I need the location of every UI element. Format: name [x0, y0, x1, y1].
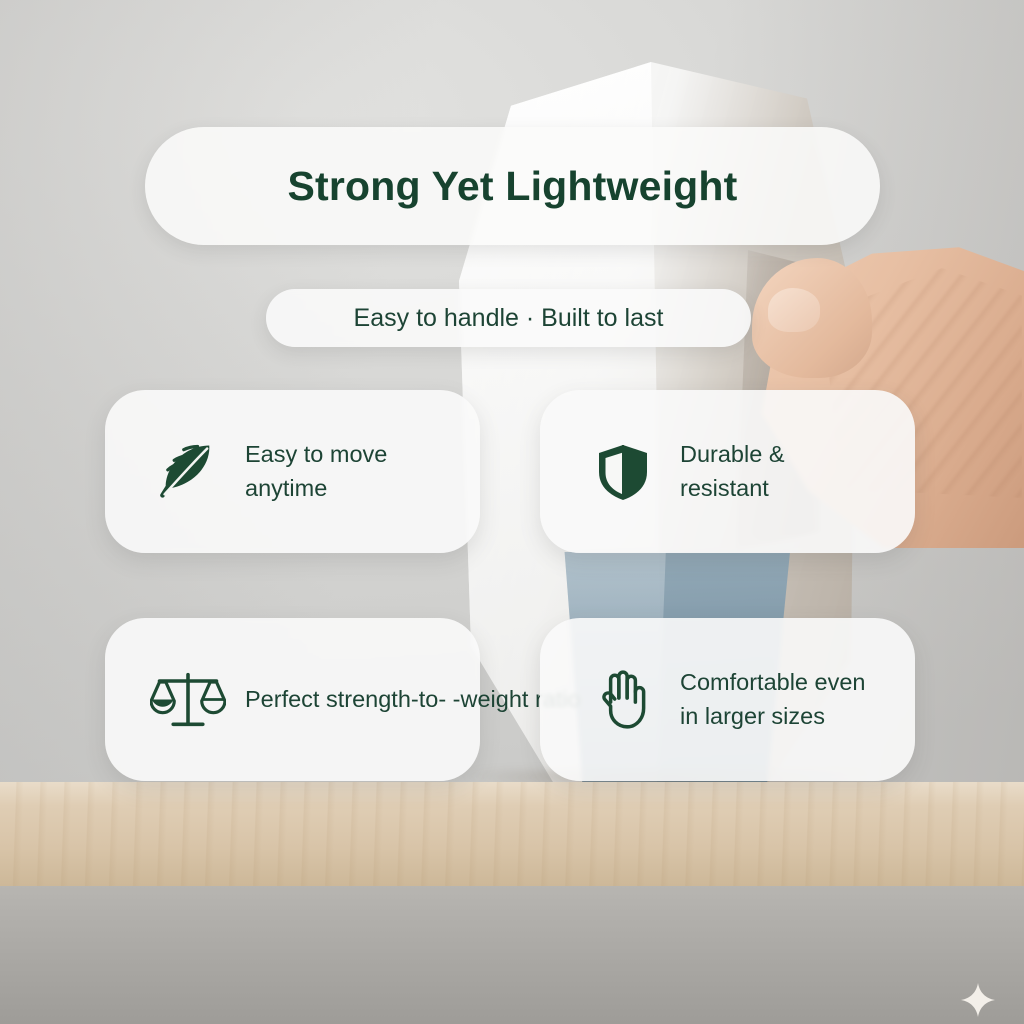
feature-card-label: Durable & resistant	[680, 438, 785, 505]
infographic-stage: Strong Yet Lightweight Easy to handle · …	[0, 0, 1024, 1024]
shield-icon	[580, 440, 666, 504]
page-title: Strong Yet Lightweight	[287, 163, 737, 210]
subtitle-pill: Easy to handle · Built to last	[266, 289, 751, 347]
hand-thumbnail	[768, 288, 820, 332]
feature-card-durable[interactable]: Durable & resistant	[540, 390, 915, 553]
feature-card-easy-to-move[interactable]: Easy to move anytime	[105, 390, 480, 553]
feature-card-comfortable[interactable]: Comfortable even in larger sizes	[540, 618, 915, 781]
open-hand-icon	[580, 667, 666, 733]
page-subtitle: Easy to handle · Built to last	[354, 304, 664, 333]
wood-grain-texture	[0, 782, 1024, 892]
feature-card-label: Easy to move anytime	[245, 438, 387, 505]
sparkle-icon	[958, 980, 998, 1020]
shelf-front-face	[0, 886, 1024, 1024]
balance-scale-icon	[145, 666, 231, 734]
feature-card-strength-to-weight[interactable]: Perfect strength-to- -weight ratio	[105, 618, 480, 781]
title-pill: Strong Yet Lightweight	[145, 127, 880, 245]
feature-card-label: Perfect strength-to- -weight ratio	[245, 683, 581, 716]
feather-icon	[145, 438, 231, 506]
feature-card-label: Comfortable even in larger sizes	[680, 666, 866, 733]
